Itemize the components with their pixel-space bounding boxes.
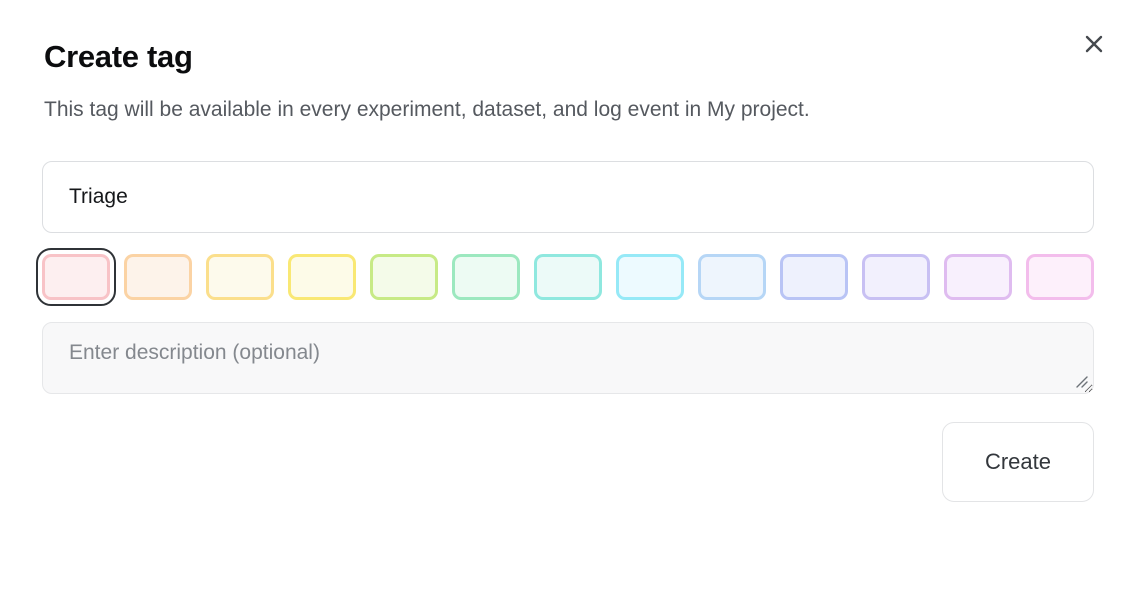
create-tag-dialog: Create tag This tag will be available in… — [0, 0, 1136, 614]
description-input[interactable] — [42, 322, 1094, 394]
color-swatch-magenta[interactable] — [1026, 254, 1094, 300]
dialog-header: Create tag This tag will be available in… — [0, 0, 1136, 129]
color-swatch-blue[interactable] — [698, 254, 766, 300]
tag-name-field-wrapper — [0, 161, 1136, 233]
close-button[interactable] — [1076, 26, 1112, 62]
color-swatch-lime[interactable] — [370, 254, 438, 300]
color-swatch-amber[interactable] — [206, 254, 274, 300]
color-swatch-row — [0, 254, 1136, 300]
color-swatch-cyan[interactable] — [616, 254, 684, 300]
color-swatch-purple[interactable] — [944, 254, 1012, 300]
description-field-wrapper — [0, 322, 1136, 394]
color-swatch-periwinkle[interactable] — [780, 254, 848, 300]
dialog-description: This tag will be available in every expe… — [44, 90, 1014, 129]
color-swatch-green[interactable] — [452, 254, 520, 300]
color-swatch-red[interactable] — [42, 254, 110, 300]
page-title: Create tag — [44, 38, 1092, 76]
close-icon — [1082, 32, 1106, 56]
tag-name-input[interactable] — [42, 161, 1094, 233]
color-swatch-yellow[interactable] — [288, 254, 356, 300]
color-swatch-indigo[interactable] — [862, 254, 930, 300]
color-swatch-orange[interactable] — [124, 254, 192, 300]
color-swatch-teal[interactable] — [534, 254, 602, 300]
dialog-footer: Create — [0, 422, 1136, 502]
create-button[interactable]: Create — [942, 422, 1094, 502]
